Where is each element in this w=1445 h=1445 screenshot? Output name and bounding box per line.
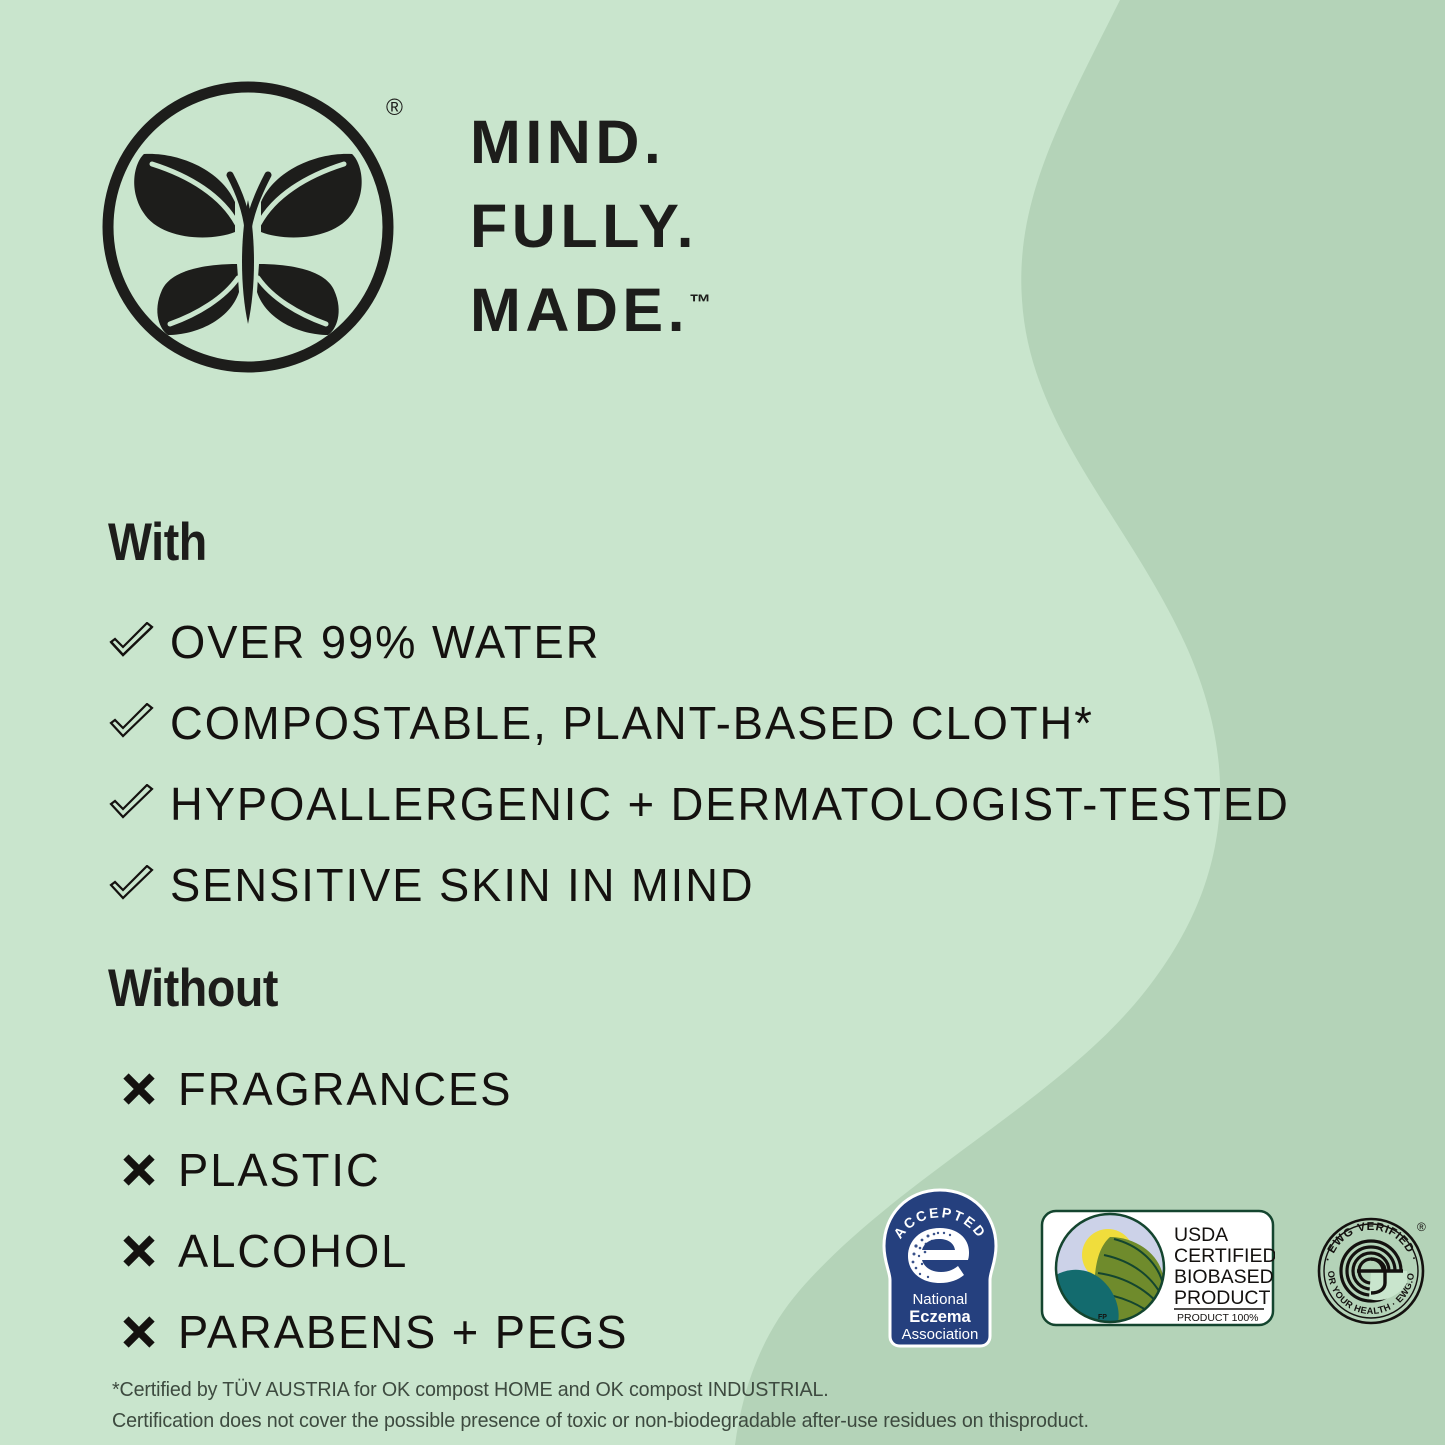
without-item-label: PLASTIC (178, 1143, 381, 1197)
brand-logo: ® (100, 72, 400, 382)
checkmark-outline-icon (108, 865, 170, 905)
footnote-line-2: Certification does not cover the possibl… (112, 1405, 1089, 1436)
with-section-title: With (108, 512, 1163, 573)
cross-x-icon (108, 1234, 178, 1268)
nea-line-3: Association (902, 1326, 979, 1343)
wordmark-line-3-text: MADE. (470, 276, 689, 344)
butterfly-in-circle-logo-icon (100, 72, 400, 382)
without-section-title: Without (108, 958, 572, 1019)
usda-sub-label: PRODUCT 100% (1177, 1312, 1259, 1324)
with-list-item: SENSITIVE SKIN IN MIND (108, 846, 1307, 924)
usda-line-3: BIOBASED (1174, 1266, 1274, 1288)
usda-line-1: USDA (1174, 1224, 1228, 1246)
nea-line-2: Eczema (909, 1308, 971, 1326)
brand-wordmark: MIND. FULLY. MADE.™ (470, 100, 711, 353)
brand-header: ® MIND. FULLY. MADE.™ (100, 72, 711, 382)
certification-badges: ACCEPTED National (876, 1188, 1437, 1353)
registered-trademark-mark: ® (386, 94, 403, 121)
without-list-item: PLASTIC (108, 1130, 635, 1209)
ewg-verified-badge: · EWG VERIFIED · · FOR YOUR HEALTH · EWG… (1311, 1205, 1437, 1336)
nea-line-1: National (912, 1291, 967, 1308)
wordmark-line-3: MADE.™ (470, 268, 711, 352)
checkmark-outline-icon (108, 784, 170, 824)
without-item-label: PARABENS + PEGS (178, 1305, 629, 1359)
without-list-item: PARABENS + PEGS (108, 1292, 635, 1371)
with-item-label: SENSITIVE SKIN IN MIND (170, 858, 755, 912)
with-list-item: HYPOALLERGENIC + DERMATOLOGIST-TESTED (108, 765, 1307, 843)
national-eczema-association-badge: ACCEPTED National (876, 1188, 1004, 1353)
without-section: Without FRAGRANCES PLASTIC ALCOHOL PARAB… (108, 958, 635, 1373)
footnote: *Certified by TÜV AUSTRIA for OK compost… (112, 1374, 1089, 1436)
usda-line-4: PRODUCT (1174, 1287, 1271, 1309)
with-section: With OVER 99% WATER COMPOSTABLE, PLANT-B… (108, 512, 1307, 927)
cross-x-icon (108, 1315, 178, 1349)
infographic-canvas: ® MIND. FULLY. MADE.™ With OVER 99% WATE… (0, 0, 1445, 1445)
with-item-label: OVER 99% WATER (170, 615, 600, 669)
usda-certified-biobased-product-badge: FP USDA CERTIFIED BIOBASED PRODUCT PRODU… (1040, 1207, 1275, 1334)
without-list-item: FRAGRANCES (108, 1049, 635, 1128)
checkmark-outline-icon (108, 622, 170, 662)
usda-corner-label: FP (1098, 1314, 1107, 1321)
without-item-label: FRAGRANCES (178, 1062, 512, 1116)
ewg-registered-mark: ® (1417, 1220, 1426, 1234)
with-item-label: COMPOSTABLE, PLANT-BASED CLOTH* (170, 696, 1094, 750)
trademark-mark: ™ (689, 290, 711, 315)
checkmark-outline-icon (108, 703, 170, 743)
with-list-item: OVER 99% WATER (108, 603, 1307, 681)
footnote-line-1: *Certified by TÜV AUSTRIA for OK compost… (112, 1374, 1089, 1405)
wordmark-line-1: MIND. (470, 100, 711, 184)
without-item-label: ALCOHOL (178, 1224, 408, 1278)
cross-x-icon (108, 1072, 178, 1106)
with-list-item: COMPOSTABLE, PLANT-BASED CLOTH* (108, 684, 1307, 762)
without-list-item: ALCOHOL (108, 1211, 635, 1290)
wordmark-line-2: FULLY. (470, 184, 711, 268)
with-item-label: HYPOALLERGENIC + DERMATOLOGIST-TESTED (170, 777, 1290, 831)
usda-line-2: CERTIFIED (1174, 1245, 1275, 1267)
cross-x-icon (108, 1153, 178, 1187)
